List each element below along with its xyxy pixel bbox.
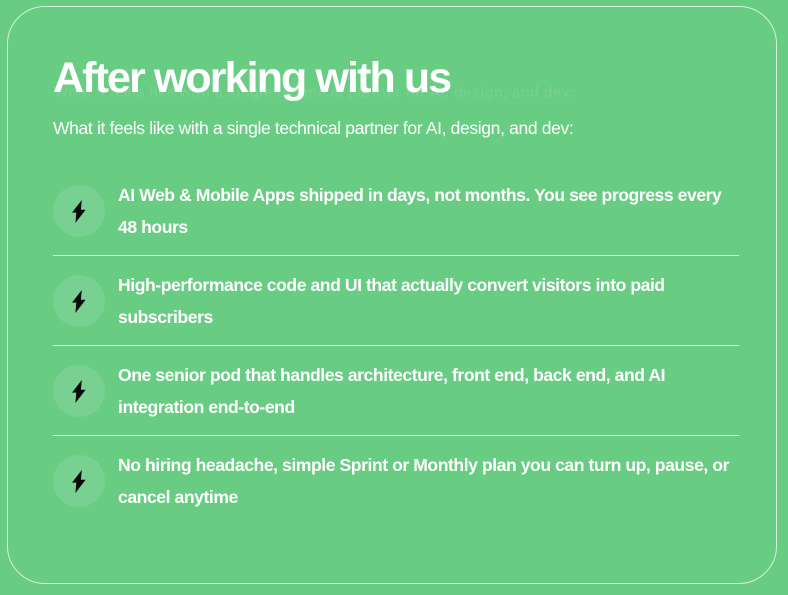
benefits-list: AI Web & Mobile Apps shipped in days, no… — [53, 166, 739, 525]
lightning-bolt-icon — [53, 455, 105, 507]
list-item-label: High-performance code and UI that actual… — [118, 269, 739, 333]
lightning-bolt-icon — [53, 275, 105, 327]
list-item: High-performance code and UI that actual… — [53, 255, 739, 345]
list-item: AI Web & Mobile Apps shipped in days, no… — [53, 166, 739, 255]
list-item: No hiring headache, simple Sprint or Mon… — [53, 435, 739, 525]
list-item-label: No hiring headache, simple Sprint or Mon… — [118, 449, 739, 513]
lightning-bolt-icon — [53, 185, 105, 237]
list-item-label: AI Web & Mobile Apps shipped in days, no… — [118, 179, 739, 243]
page-title: After working with us — [53, 54, 738, 103]
list-item-label: One senior pod that handles architecture… — [118, 359, 739, 423]
benefits-card: What it feels like with a single technic… — [0, 0, 788, 595]
page-subtitle: What it feels like with a single technic… — [53, 116, 738, 140]
lightning-bolt-icon — [53, 365, 105, 417]
list-item: One senior pod that handles architecture… — [53, 345, 739, 435]
card-content: After working with us What it feels like… — [0, 0, 788, 595]
